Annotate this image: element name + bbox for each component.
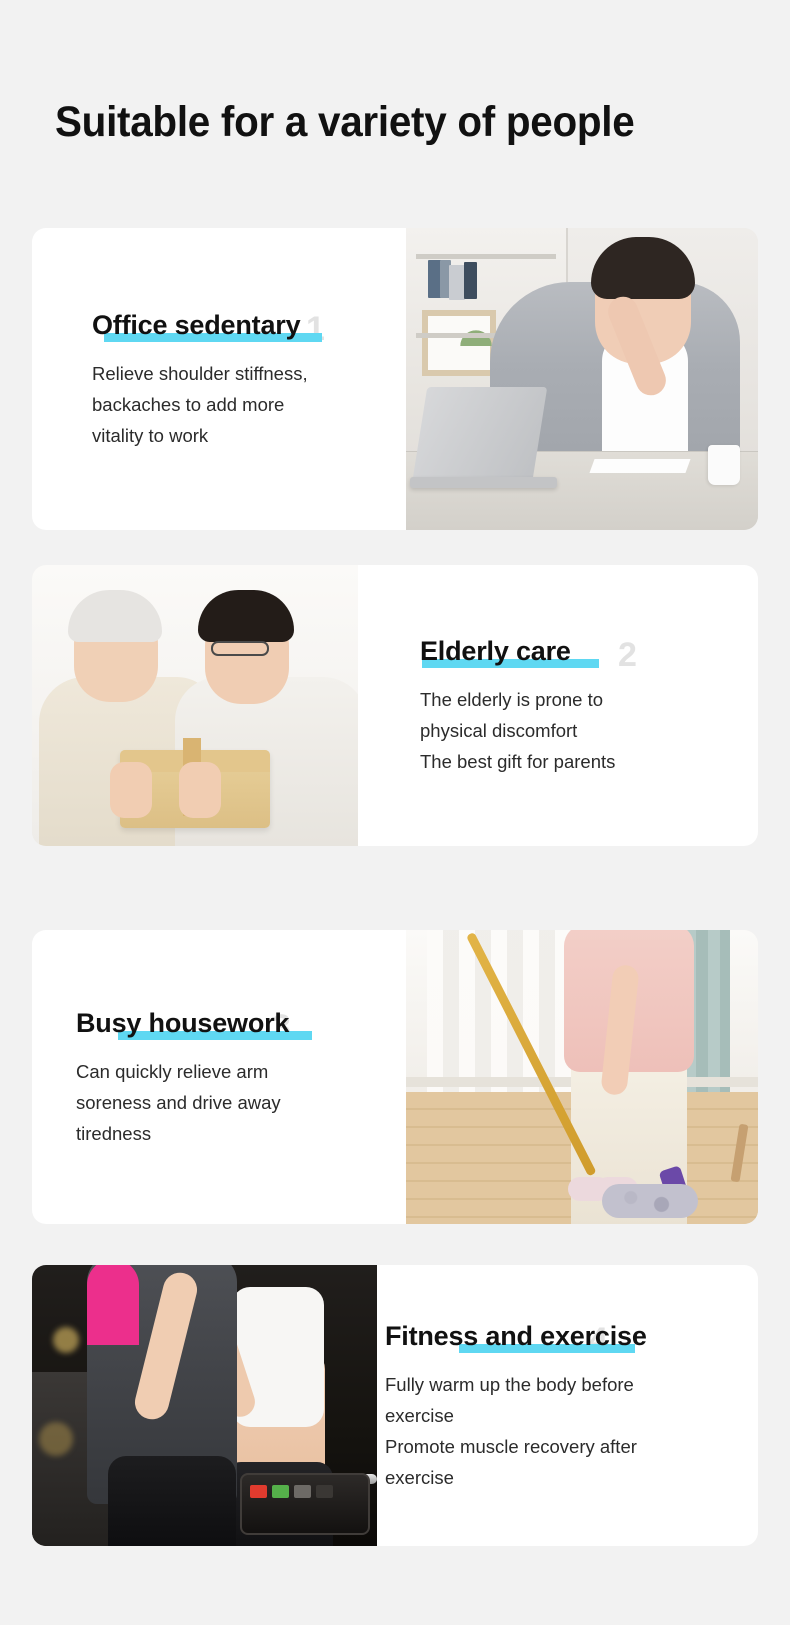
- console-key-shape: [316, 1485, 333, 1498]
- card-number-watermark: 2: [618, 636, 637, 675]
- office-desk-illustration: [406, 228, 758, 530]
- card-description: Relieve shoulder stiffness, backaches to…: [92, 358, 406, 451]
- mop-head-shape: [602, 1184, 698, 1218]
- card-text-block: 4 Fitness and exercise Fully warm up the…: [377, 1265, 758, 1546]
- card-image-busy-housework: [406, 930, 758, 1224]
- elder-hair-shape: [68, 590, 162, 642]
- card-description: Fully warm up the body before exercise P…: [385, 1369, 758, 1493]
- mug-shape: [708, 445, 740, 485]
- card-heading-group: 3 Busy housework: [76, 1006, 406, 1040]
- card-heading: Elderly care: [420, 636, 571, 666]
- console-key-shape: [294, 1485, 311, 1498]
- person-a-strap-shape: [87, 1265, 139, 1345]
- son-hair-shape: [198, 590, 294, 642]
- card-description: Can quickly relieve arm soreness and dri…: [76, 1056, 406, 1149]
- card-image-elderly-care: [32, 565, 358, 846]
- bokeh-light-shape: [53, 1327, 79, 1353]
- benefit-card-elderly-care[interactable]: 2 Elderly care The elderly is prone to p…: [32, 565, 758, 846]
- glasses-shape: [211, 641, 269, 656]
- person-a-legs-shape: [108, 1456, 236, 1546]
- console-key-shape: [250, 1485, 267, 1498]
- benefit-card-busy-housework[interactable]: 3 Busy housework Can quickly relieve arm…: [32, 930, 758, 1224]
- book-shape: [464, 262, 477, 299]
- laptop-base-shape: [410, 477, 558, 488]
- card-heading: Busy housework: [76, 1008, 289, 1038]
- card-heading: Fitness and exercise: [385, 1321, 647, 1351]
- card-text-block: 3 Busy housework Can quickly relieve arm…: [32, 930, 406, 1224]
- card-number-watermark: 1: [306, 310, 325, 349]
- card-image-fitness-and-exercise: [32, 1265, 377, 1546]
- promo-page: Suitable for a variety of people 1 Offic…: [0, 0, 790, 1625]
- paper-shape: [589, 459, 690, 473]
- mopping-illustration: [406, 930, 758, 1224]
- gym-illustration: [32, 1265, 377, 1546]
- card-heading-group: 4 Fitness and exercise: [385, 1319, 758, 1353]
- treadmill-console-shape: [240, 1473, 370, 1535]
- person-hair-shape: [591, 237, 695, 299]
- card-image-office-sedentary: [406, 228, 758, 530]
- card-text-block: 1 Office sedentary Relieve shoulder stif…: [32, 228, 406, 530]
- laptop-screen-shape: [413, 387, 547, 479]
- card-heading-group: 2 Elderly care: [420, 634, 758, 668]
- hand-shape: [179, 762, 221, 818]
- elderly-gift-illustration: [32, 565, 358, 846]
- plant-shape: [459, 316, 493, 346]
- bokeh-light-shape: [39, 1422, 73, 1456]
- card-heading-group: 1 Office sedentary: [92, 308, 406, 342]
- benefit-card-office-sedentary[interactable]: 1 Office sedentary Relieve shoulder stif…: [32, 228, 758, 530]
- card-description: The elderly is prone to physical discomf…: [420, 684, 758, 777]
- page-title: Suitable for a variety of people: [55, 94, 634, 150]
- card-heading: Office sedentary: [92, 310, 300, 340]
- book-shape: [449, 265, 465, 300]
- hand-shape: [110, 762, 152, 818]
- card-text-block: 2 Elderly care The elderly is prone to p…: [358, 565, 758, 846]
- console-key-shape: [272, 1485, 289, 1498]
- benefit-card-fitness-and-exercise[interactable]: 4 Fitness and exercise Fully warm up the…: [32, 1265, 758, 1546]
